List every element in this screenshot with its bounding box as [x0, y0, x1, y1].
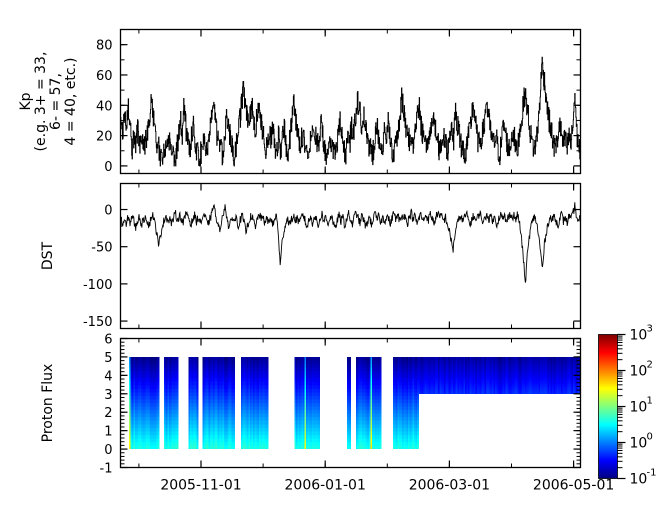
spectrogram-cell	[266, 435, 268, 439]
spectrogram-cell	[318, 428, 320, 432]
spectrogram-cell	[266, 392, 268, 396]
spectrogram-cell	[349, 410, 351, 414]
spectrogram-cell	[233, 396, 235, 400]
dst-y-axis: 0-50-100-150	[83, 204, 581, 331]
spectrogram-cell	[196, 378, 198, 382]
spectrogram-cell	[417, 410, 419, 414]
spectrogram-cell	[349, 378, 351, 382]
spectrogram-cell	[318, 410, 320, 414]
dst-trace	[121, 202, 581, 282]
spectrogram-cell	[266, 428, 268, 432]
spectrogram-cell	[349, 435, 351, 439]
spectrogram-cell	[158, 371, 160, 375]
spectrogram-cell	[158, 407, 160, 411]
spectrogram-cell	[266, 364, 268, 368]
spectrogram-cell	[158, 442, 160, 446]
spectrogram-cell	[233, 364, 235, 368]
spectrogram-cell	[176, 364, 178, 368]
spectrogram-cell	[318, 424, 320, 428]
spectrogram-cell	[158, 410, 160, 414]
spectrogram-cell	[196, 417, 198, 421]
spectrogram-cell	[379, 410, 381, 414]
spectrogram-cell	[233, 392, 235, 396]
spectrogram-cell	[233, 435, 235, 439]
spectrogram-cell	[233, 385, 235, 389]
spectrogram-cell	[158, 403, 160, 407]
spectrogram-cell	[158, 382, 160, 386]
spectrogram-cell	[158, 414, 160, 418]
spectrogram-cell	[318, 392, 320, 396]
spectrogram-cell	[266, 442, 268, 446]
spectrogram-cell	[233, 431, 235, 435]
spectrogram-cell	[349, 421, 351, 425]
spectrogram-cell	[349, 396, 351, 400]
spectrogram-cell	[417, 421, 419, 425]
spectrogram-cell	[379, 417, 381, 421]
spectrogram-cell	[379, 438, 381, 442]
spectrogram-cell	[417, 424, 419, 428]
spectrogram-cell	[158, 431, 160, 435]
spectrogram-cell	[233, 438, 235, 442]
spectrogram-cell	[196, 435, 198, 439]
dst-axis-label: DST	[40, 241, 56, 270]
spectrogram-cell	[318, 364, 320, 368]
spectrogram-cell	[176, 428, 178, 432]
spectrogram-cell	[233, 403, 235, 407]
spectrogram-cell	[379, 399, 381, 403]
spectrogram-cell	[176, 385, 178, 389]
spectrogram-cell	[233, 442, 235, 446]
spectrogram-cell	[176, 438, 178, 442]
spectrogram-cell	[158, 421, 160, 425]
spectrogram-cell	[379, 389, 381, 393]
spectrogram-cell	[233, 399, 235, 403]
spectrogram-cell	[379, 378, 381, 382]
spectrogram-cell	[196, 382, 198, 386]
kp-trace	[121, 57, 581, 166]
spectrogram-cell	[176, 368, 178, 372]
spectrogram-cell	[417, 396, 419, 400]
spectrogram-cell	[379, 431, 381, 435]
spectrogram-cell	[196, 424, 198, 428]
spectrogram-cell	[318, 438, 320, 442]
spectrogram-cell	[266, 360, 268, 364]
spectrogram-cell	[349, 407, 351, 411]
spectrogram-cell	[158, 438, 160, 442]
spectrogram-cell	[196, 442, 198, 446]
spectrogram-cell	[349, 399, 351, 403]
spectrogram-cell	[266, 378, 268, 382]
spectrogram-cell	[158, 368, 160, 372]
spectrogram-cell	[196, 368, 198, 372]
spectrogram-cell	[318, 407, 320, 411]
spectrogram-cell	[318, 389, 320, 393]
spectrogram-cell	[158, 357, 160, 361]
spectrogram-cell	[266, 421, 268, 425]
spectrogram-cell	[266, 368, 268, 372]
spectrogram-cell	[266, 357, 268, 361]
spectrogram-cell	[196, 392, 198, 396]
spectrogram-cell	[196, 446, 198, 450]
spectrogram-cell	[176, 442, 178, 446]
spectrogram-cell	[158, 360, 160, 364]
spectrogram-cell	[318, 360, 320, 364]
spectrogram-cell	[176, 446, 178, 450]
spectrogram-cell	[266, 438, 268, 442]
spectrogram-cell	[349, 438, 351, 442]
spectrogram-cell	[266, 375, 268, 379]
spectrogram-cell	[196, 364, 198, 368]
spectrogram-cell	[349, 360, 351, 364]
spectrogram-cell	[233, 389, 235, 393]
spectrogram-cell	[349, 392, 351, 396]
spectrogram-cell	[158, 435, 160, 439]
spectrogram-cell	[176, 375, 178, 379]
spectrogram-cell	[379, 375, 381, 379]
spectrogram-cell	[196, 396, 198, 400]
spectrogram-cell	[158, 378, 160, 382]
kp-axis-label-line: Kp	[18, 92, 34, 110]
spectrogram-cell	[176, 417, 178, 421]
y-tick-label: 0	[104, 204, 112, 219]
spectrogram-cell	[349, 446, 351, 450]
spectrogram-cell	[196, 360, 198, 364]
kp-axis-label-line: (e.g. 3+ = 33,	[33, 52, 49, 152]
spectrogram-cell	[379, 368, 381, 372]
spectrogram-cell	[176, 389, 178, 393]
spectrogram-cell	[379, 382, 381, 386]
spectrogram-cell	[266, 414, 268, 418]
spectrogram-cell	[233, 407, 235, 411]
spectrogram-cell	[318, 446, 320, 450]
spectrogram-cell	[233, 378, 235, 382]
spectrogram-cell	[158, 428, 160, 432]
spectrogram-cell	[196, 389, 198, 393]
spectrogram-cell	[349, 424, 351, 428]
spectrogram-cell	[266, 371, 268, 375]
spectrogram-cell	[158, 375, 160, 379]
spectrogram-cell	[176, 407, 178, 411]
spectrogram-cell	[196, 357, 198, 361]
spectrogram-cell	[196, 403, 198, 407]
spectrogram-cell	[266, 407, 268, 411]
spectrogram-cell	[196, 371, 198, 375]
spectrogram-cell	[349, 403, 351, 407]
spectrogram-cell	[176, 396, 178, 400]
spectrogram-cell	[318, 417, 320, 421]
spectrogram-cell	[379, 442, 381, 446]
spectrogram-cell	[233, 417, 235, 421]
spectrogram-cell	[176, 424, 178, 428]
proton-spectrogram	[129, 357, 581, 449]
spectrogram-cell	[176, 414, 178, 418]
spectrogram-cell	[196, 385, 198, 389]
kp-axis-label-line: 4 = 40, etc.)	[63, 58, 79, 146]
spectrogram-cell	[196, 421, 198, 425]
spectrogram-cell	[233, 360, 235, 364]
spectrogram-cell	[379, 428, 381, 432]
y-tick-label: 80	[96, 39, 113, 54]
spectrogram-cell	[318, 399, 320, 403]
spectrogram-cell	[318, 371, 320, 375]
spectrogram-cell	[176, 357, 178, 361]
y-tick-label: 0	[104, 160, 112, 175]
scientific-figure: 020406080Kp(e.g. 3+ = 33,6- = 57,4 = 40,…	[0, 0, 665, 523]
spectrogram-cell	[379, 403, 381, 407]
spectrogram-cell	[349, 382, 351, 386]
spectrogram-cell	[266, 424, 268, 428]
spectrogram-cell	[417, 414, 419, 418]
spectrogram-cell	[158, 392, 160, 396]
spectrogram-cell	[417, 431, 419, 435]
spectrogram-cell	[318, 421, 320, 425]
spectrogram-cell	[196, 431, 198, 435]
spectrogram-cell	[176, 392, 178, 396]
spectrogram-cell	[266, 446, 268, 450]
plot-canvas: 020406080Kp(e.g. 3+ = 33,6- = 57,4 = 40,…	[0, 0, 665, 523]
spectrogram-cell	[417, 428, 419, 432]
spectrogram-cell	[379, 364, 381, 368]
spectrogram-cell	[379, 392, 381, 396]
spectrogram-cell	[417, 446, 419, 450]
spectrogram-cell	[349, 414, 351, 418]
spectrogram-cell	[233, 421, 235, 425]
y-tick-label: -150	[83, 315, 113, 330]
spectrogram-cell	[196, 410, 198, 414]
spectrogram-cell	[266, 417, 268, 421]
spectrogram-cell	[379, 385, 381, 389]
spectrogram-cell	[176, 431, 178, 435]
spectrogram-cell	[318, 403, 320, 407]
spectrogram-cell	[266, 396, 268, 400]
spectrogram-cell	[379, 371, 381, 375]
spectrogram-cell	[158, 417, 160, 421]
spectrogram-cell	[379, 421, 381, 425]
spectrogram-cell	[266, 399, 268, 403]
kp-axis-label-line: 6- = 57,	[48, 73, 64, 130]
spectrogram-cell	[318, 378, 320, 382]
spectrogram-cell	[158, 424, 160, 428]
spectrogram-cell	[349, 368, 351, 372]
spectrogram-cell	[318, 368, 320, 372]
spectrogram-cell	[349, 375, 351, 379]
spectrogram-cell	[196, 375, 198, 379]
x-tick-group	[139, 184, 574, 329]
spectrogram-cell	[176, 382, 178, 386]
spectrogram-cell	[196, 399, 198, 403]
spectrogram-cell	[349, 428, 351, 432]
spectrogram-cell	[158, 385, 160, 389]
spectrogram-cell	[158, 399, 160, 403]
spectrogram-cell	[196, 407, 198, 411]
spectrogram-cell	[196, 428, 198, 432]
spectrogram-cell	[266, 410, 268, 414]
spectrogram-cell	[176, 378, 178, 382]
kp-axis-label: Kp(e.g. 3+ = 33,6- = 57,4 = 40, etc.)	[18, 52, 79, 152]
spectrogram-cell	[233, 446, 235, 450]
y-tick-label: 20	[96, 130, 113, 145]
spectrogram-cell	[233, 424, 235, 428]
spectrogram-cell	[349, 371, 351, 375]
y-tick-label: 40	[96, 99, 113, 114]
spectrogram-cell	[233, 357, 235, 361]
spectrogram-cell	[379, 414, 381, 418]
spectrogram-cell	[417, 417, 419, 421]
spectrogram-cell	[318, 357, 320, 361]
spectrogram-cell	[196, 438, 198, 442]
spectrogram-cell	[349, 357, 351, 361]
spectrogram-cell	[417, 435, 419, 439]
spectrogram-cell	[158, 446, 160, 450]
spectrogram-cell	[417, 442, 419, 446]
spectrogram-cell	[233, 371, 235, 375]
spectrogram-cell	[349, 431, 351, 435]
spectrogram-cell	[318, 396, 320, 400]
spectrogram-cell	[176, 421, 178, 425]
spectrogram-cell	[318, 435, 320, 439]
spectrogram-cell	[233, 414, 235, 418]
y-tick-label: -100	[83, 278, 113, 293]
spectrogram-cell	[176, 403, 178, 407]
spectrogram-cell	[417, 407, 419, 411]
spectrogram-cell	[266, 385, 268, 389]
spectrogram-cell	[379, 360, 381, 364]
spectrogram-cell	[233, 375, 235, 379]
spectrogram-cell	[349, 389, 351, 393]
spectrogram-cell	[318, 375, 320, 379]
y-tick-label: -50	[91, 241, 112, 256]
spectrogram-cell	[318, 382, 320, 386]
spectrogram-cell	[379, 435, 381, 439]
spectrogram-cell	[233, 382, 235, 386]
spectrogram-cell	[318, 431, 320, 435]
spectrogram-cell	[379, 396, 381, 400]
spectrogram-cell	[349, 385, 351, 389]
spectrogram-cell	[196, 414, 198, 418]
spectrogram-cell	[266, 382, 268, 386]
spectrogram-cell	[233, 410, 235, 414]
spectrogram-cell	[266, 403, 268, 407]
spectrogram-cell	[158, 364, 160, 368]
spectrogram-cell	[379, 446, 381, 450]
spectrogram-cell	[417, 403, 419, 407]
spectrogram-cell	[176, 410, 178, 414]
spectrogram-cell	[379, 424, 381, 428]
spectrogram-cell	[318, 414, 320, 418]
spectrogram-cell	[349, 364, 351, 368]
spectrogram-cell	[158, 389, 160, 393]
spectrogram-cell	[349, 442, 351, 446]
spectrogram-cell	[176, 399, 178, 403]
spectrogram-cell	[379, 357, 381, 361]
spectrogram-cell	[349, 417, 351, 421]
spectrogram-cell	[266, 431, 268, 435]
dst-panel-frame	[121, 184, 581, 329]
y-tick-label: 60	[96, 69, 113, 84]
spectrogram-cell	[318, 442, 320, 446]
spectrogram-cell	[158, 396, 160, 400]
spectrogram-cell	[176, 435, 178, 439]
spectrogram-cell	[233, 428, 235, 432]
spectrogram-cell	[318, 385, 320, 389]
spectrogram-cell	[266, 389, 268, 393]
spectrogram-cell	[176, 371, 178, 375]
spectrogram-cell	[417, 399, 419, 403]
spectrogram-cell	[233, 368, 235, 372]
spectrogram-cell	[379, 407, 381, 411]
spectrogram-cell	[176, 360, 178, 364]
spectrogram-cell	[417, 438, 419, 442]
